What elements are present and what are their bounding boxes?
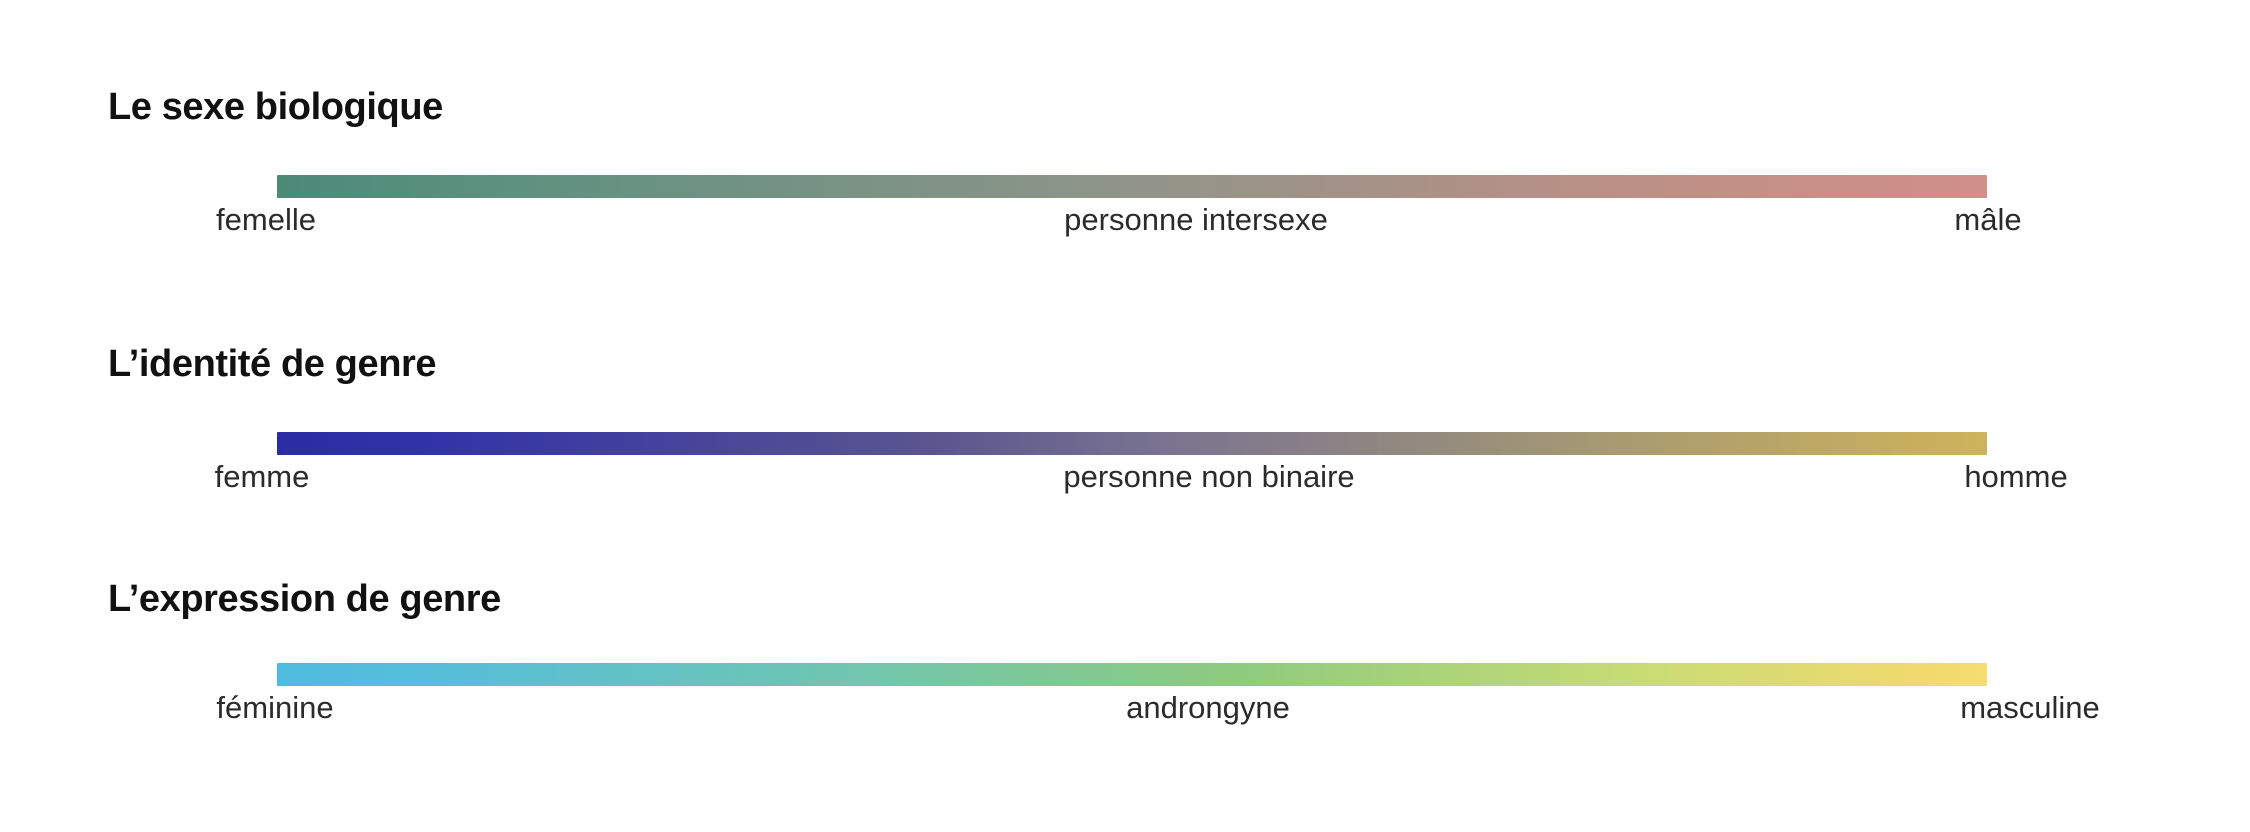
spectrum-label-row-expression-de-genre: féminine androngyne masculine: [0, 688, 2250, 728]
spectrum-label-end-masculine: masculine: [1960, 688, 2100, 728]
gender-spectrum-infographic: Le sexe biologique femelle personne inte…: [0, 0, 2250, 832]
spectrum-label-start-feminine: féminine: [216, 688, 333, 728]
spectrum-label-middle-androngyne: androngyne: [1126, 688, 1290, 728]
spectrum-section-expression-de-genre: L’expression de genre féminine androngyn…: [0, 0, 2250, 800]
spectrum-bar-expression-de-genre: [277, 663, 1987, 686]
spectrum-heading-expression-de-genre: L’expression de genre: [108, 580, 501, 618]
